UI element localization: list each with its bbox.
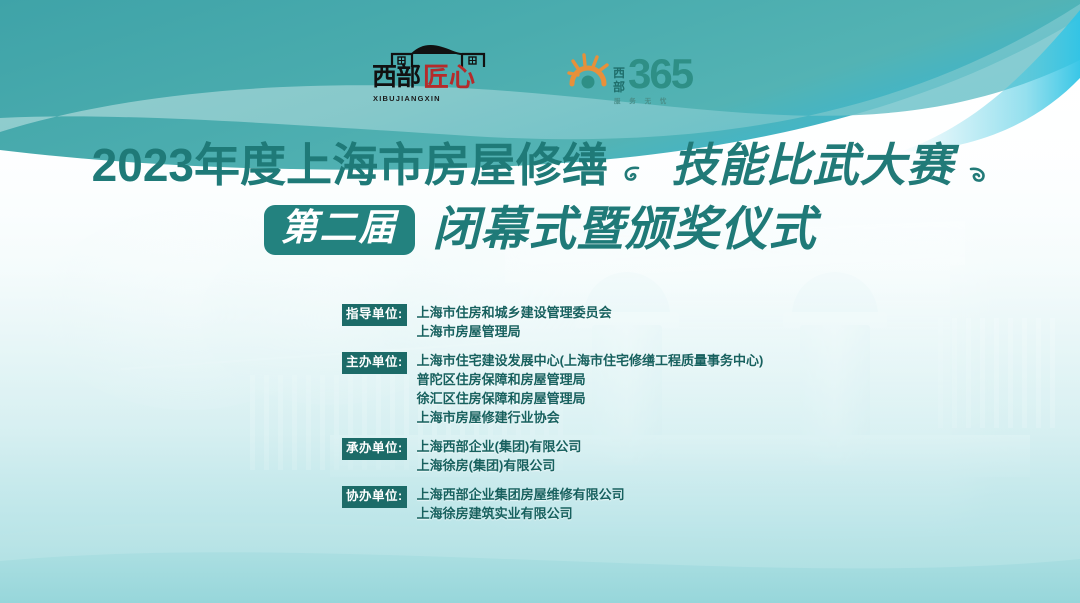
logo-text-jiangxin: 匠心 [423,64,475,90]
sun-icon-wrap [566,53,610,99]
organizer-info-block: 指导单位: 上海市住房和城乡建设管理委员会 上海市房屋管理局 主办单位: 上海市… [342,303,962,533]
info-row-coorganizer: 协办单位: 上海西部企业集团房屋维修有限公司 上海徐房建筑实业有限公司 [342,485,962,523]
edition-badge: 第二届 [264,205,415,255]
info-label-badge: 指导单位: [342,304,407,326]
info-values: 上海西部企业集团房屋维修有限公司 上海徐房建筑实业有限公司 [417,485,625,523]
info-value: 上海西部企业(集团)有限公司 [417,437,582,456]
info-value: 上海徐房(集团)有限公司 [417,456,582,475]
info-row-host: 主办单位: 上海市住宅建设发展中心(上海市住宅修缮工程质量事务中心) 普陀区住房… [342,351,962,427]
title-part-competition: 技能比武大赛 [672,140,954,191]
info-value: 上海市住房和城乡建设管理委员会 [417,303,612,322]
logo-text-xibu: 西部 [372,65,420,90]
info-label-badge: 主办单位: [342,352,407,374]
info-value: 上海市房屋管理局 [417,322,612,341]
poster-content: 西部 匠心 XIBUJIANGXIN [0,0,1080,603]
info-label-badge: 承办单位: [342,438,407,460]
poster-slide: 西部 匠心 XIBUJIANGXIN [0,0,1080,603]
logo-365-subtitle: 服 务 无 忧 [614,95,670,105]
info-row-guidance: 指导单位: 上海市住房和城乡建设管理委员会 上海市房屋管理局 [342,303,962,341]
info-value: 上海市住宅建设发展中心(上海市住宅修缮工程质量事务中心) [417,351,764,370]
page-title-line1: 2023年度上海市房屋修缮 技能比武大赛 [0,142,1080,189]
logo-365-cn-line2: 部 [613,81,625,94]
info-value: 上海市房屋修建行业协会 [417,408,764,427]
logo-text-row: 西部 匠心 [372,64,475,90]
info-value: 上海徐房建筑实业有限公司 [417,504,625,523]
flourish-icon [968,165,986,183]
logo-365-cn: 西 部 [613,67,625,93]
info-value: 上海西部企业集团房屋维修有限公司 [417,485,625,504]
info-row-organizer: 承办单位: 上海西部企业(集团)有限公司 上海徐房(集团)有限公司 [342,437,962,475]
title-ceremony: 闭幕式暨颁奖仪式 [433,207,817,254]
page-title-line2: 第二届 闭幕式暨颁奖仪式 [0,205,1080,255]
info-values: 上海西部企业(集团)有限公司 上海徐房(集团)有限公司 [417,437,582,475]
logo-row: 西部 匠心 XIBUJIANGXIN [0,44,1080,108]
info-values: 上海市住房和城乡建设管理委员会 上海市房屋管理局 [417,303,612,341]
title-part-year-city: 2023年度上海市房屋修缮 [92,139,608,191]
logo-365-cn-line1: 西 [613,67,625,80]
info-label-badge: 协办单位: [342,486,407,508]
sun-icon [566,53,610,99]
flourish-icon [623,165,641,183]
logo-xibu365: 西 部 365 服 务 无 忧 [566,45,708,107]
info-values: 上海市住宅建设发展中心(上海市住宅修缮工程质量事务中心) 普陀区住房保障和房屋管… [417,351,764,427]
logo-pinyin: XIBUJIANGXIN [373,94,441,103]
logo-365-number: 365 [628,55,692,94]
info-value: 普陀区住房保障和房屋管理局 [417,370,764,389]
info-value: 徐汇区住房保障和房屋管理局 [417,389,764,408]
logo-xibujiangxin: 西部 匠心 XIBUJIANGXIN [372,44,520,108]
